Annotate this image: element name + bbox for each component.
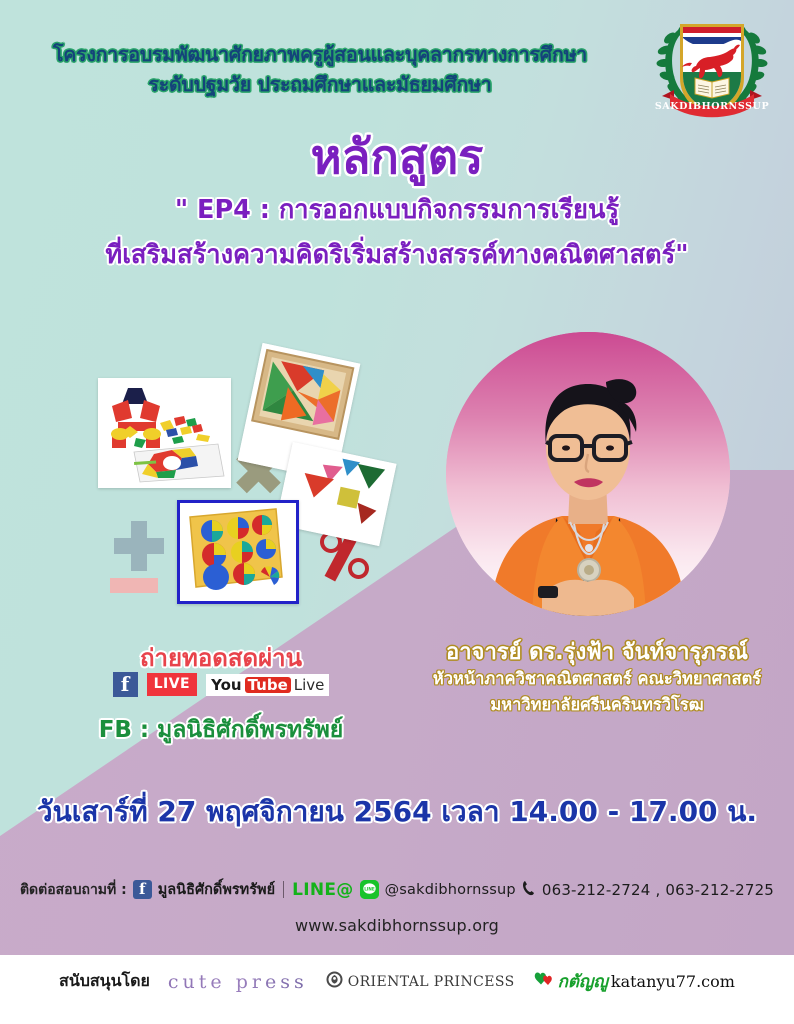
facebook-icon[interactable]: f bbox=[113, 672, 138, 697]
youtube-live-text: Live bbox=[294, 677, 325, 693]
title-subtitle-1: " EP4 : การออกแบบกิจกรรมการเรียนรู้ bbox=[0, 188, 794, 232]
youtube-tube-text: Tube bbox=[245, 677, 291, 693]
youtube-live-badge[interactable]: You Tube Live bbox=[206, 674, 329, 696]
contact-divider bbox=[283, 881, 284, 898]
oriental-princess-text: ORIENTAL PRINCESS bbox=[348, 974, 515, 990]
facebook-icon-small[interactable]: f bbox=[133, 880, 152, 899]
sponsors-row: สนับสนุนโดย cute press ORIENTAL PRINCESS bbox=[0, 968, 794, 995]
header-line-1: โครงการอบรมพัฒนาศักยภาพครูผู้สอนและบุคลา… bbox=[0, 40, 640, 70]
live-platform-badges: f LIVE You Tube Live bbox=[96, 672, 346, 697]
cute-press-logo: cute press bbox=[168, 971, 308, 993]
katanyu-heart-icon bbox=[533, 970, 555, 993]
pattern-blocks-photo bbox=[98, 378, 231, 488]
line-icon[interactable]: LINE bbox=[360, 880, 379, 899]
katanyu-logo: กตัญญู katanyu77.com bbox=[533, 968, 735, 995]
header-block: โครงการอบรมพัฒนาศักยภาพครูผู้สอนและบุคลา… bbox=[0, 40, 640, 100]
contact-label: ติดต่อสอบถามที่ : bbox=[20, 879, 127, 901]
speaker-name: อาจารย์ ดร.รุ่งฟ้า จันท์จารุภรณ์ bbox=[400, 634, 794, 669]
speaker-role: หัวหน้าภาควิชาคณิตศาสตร์ คณะวิทยาศาสตร์ bbox=[400, 666, 794, 692]
phone-icon bbox=[522, 880, 536, 900]
svg-text:LINE: LINE bbox=[364, 886, 375, 891]
contact-facebook-name[interactable]: มูลนิธิศักดิ์พรทรัพย์ bbox=[158, 878, 275, 901]
facebook-live-badge[interactable]: LIVE bbox=[147, 673, 198, 696]
title-block: หลักสูตร " EP4 : การออกแบบกิจกรรมการเรีย… bbox=[0, 128, 794, 278]
youtube-you-text: You bbox=[211, 677, 241, 693]
minus-symbol-icon bbox=[110, 578, 158, 593]
katanyu-thai-text: กตัญญู bbox=[558, 968, 608, 995]
oriental-princess-mark-icon bbox=[326, 971, 343, 992]
speaker-university: มหาวิทยาลัยศรีนครินทรวิโรฒ bbox=[400, 692, 794, 718]
facebook-page-name[interactable]: FB : มูลนิธิศักดิ์พรทรัพย์ bbox=[76, 712, 366, 748]
katanyu-url-text: katanyu77.com bbox=[611, 972, 735, 991]
fraction-circles-photo bbox=[177, 500, 299, 604]
sakdibhornssup-crest-icon: SAKDIBHORNSSUP bbox=[648, 8, 776, 130]
oriental-princess-logo: ORIENTAL PRINCESS bbox=[326, 971, 515, 992]
speaker-portrait bbox=[446, 332, 730, 616]
contact-row: ติดต่อสอบถามที่ : f มูลนิธิศักดิ์พรทรัพย… bbox=[0, 878, 794, 901]
contact-phones[interactable]: 063-212-2724 , 063-212-2725 bbox=[542, 881, 774, 899]
line-label: LINE@ bbox=[292, 880, 354, 900]
svg-text:SAKDIBHORNSSUP: SAKDIBHORNSSUP bbox=[655, 101, 769, 112]
header-line-2: ระดับปฐมวัย ประถมศึกษาและมัธยมศึกษา bbox=[0, 70, 640, 100]
event-poster: โครงการอบรมพัฒนาศักยภาพครูผู้สอนและบุคลา… bbox=[0, 0, 794, 1024]
line-id[interactable]: @sakdibhornssup bbox=[385, 882, 516, 898]
website-url[interactable]: www.sakdibhornssup.org bbox=[0, 916, 794, 935]
plus-symbol-icon bbox=[114, 521, 164, 571]
event-datetime: วันเสาร์ที่ 27 พฤศจิกายน 2564 เวลา 14.00… bbox=[0, 790, 794, 834]
page-title: หลักสูตร bbox=[0, 128, 794, 188]
title-subtitle-2: ที่เสริมสร้างความคิดริเริ่มสร้างสรรค์ทาง… bbox=[0, 232, 794, 278]
sponsors-label: สนับสนุนโดย bbox=[59, 969, 150, 994]
